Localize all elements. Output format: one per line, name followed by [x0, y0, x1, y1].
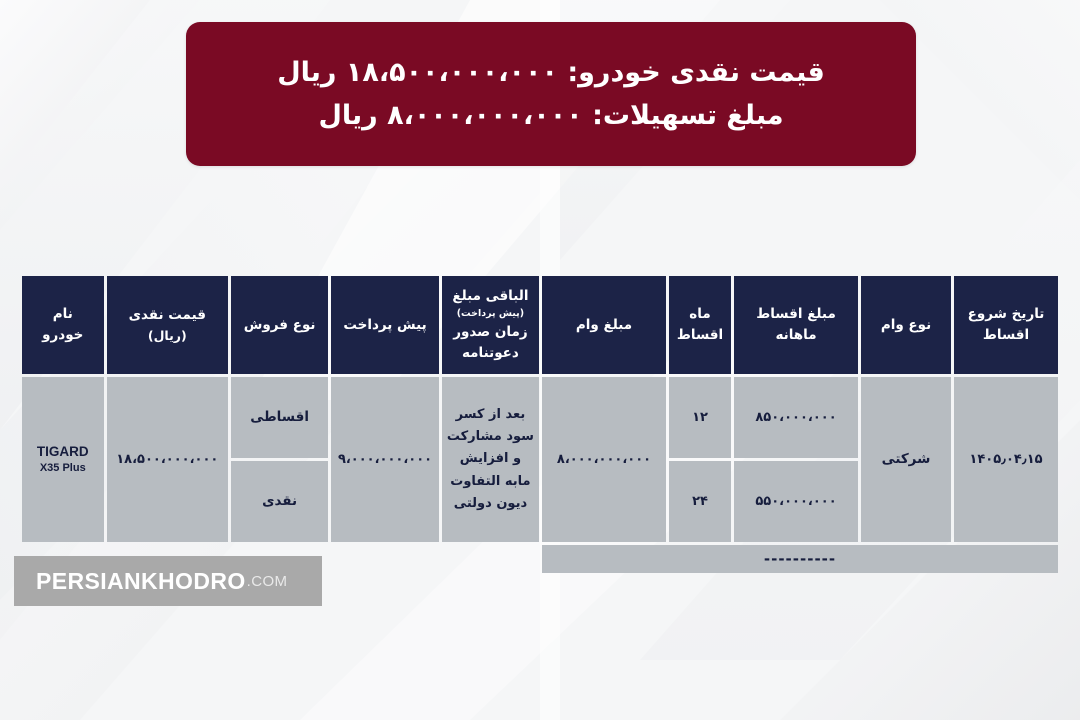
cell-monthly-installment-24: ۵۵۰،۰۰۰،۰۰۰ [734, 461, 858, 542]
column-loan-type: نوع وام شرکتی [861, 276, 951, 542]
cell-sale-type-installment: اقساطی [231, 377, 328, 458]
watermark-persiankhodro: PERSIANKHODRO .COM [14, 556, 322, 606]
cell-remaining-line5: دیون دولتی [454, 493, 527, 515]
header-car-name-line2: خودرو [42, 325, 83, 346]
column-car-name: نام خودرو TIGARD X35 Plus [22, 276, 104, 542]
column-prepayment: پیش پرداخت ۹،۰۰۰،۰۰۰،۰۰۰ [331, 276, 439, 542]
header-car-name: نام خودرو [22, 276, 104, 374]
header-loan-type: نوع وام [861, 276, 951, 374]
banner-facility-amount-line: مبلغ تسهیلات: ۸،۰۰۰،۰۰۰،۰۰۰ ریال [318, 100, 783, 131]
header-installment-months-line2: اقساط [677, 325, 723, 346]
cell-dashes-row: ---------- [542, 545, 1058, 573]
cell-car-name-main: TIGARD [37, 443, 89, 461]
header-installment-months-line1: ماه [689, 304, 710, 325]
header-start-date: تاریخ شروع اقساط [954, 276, 1058, 374]
column-sale-type: نوع فروش اقساطی نقدی [231, 276, 328, 542]
header-sale-type: نوع فروش [231, 276, 328, 374]
banner-cash-price-line: قیمت نقدی خودرو: ۱۸،۵۰۰،۰۰۰،۰۰۰ ریال [277, 57, 825, 88]
table-left-group-row: تاریخ شروع اقساط ۱۴۰۵٫۰۴٫۱۵ نوع وام شرکت… [542, 276, 1058, 542]
table-left-group: تاریخ شروع اقساط ۱۴۰۵٫۰۴٫۱۵ نوع وام شرکت… [542, 276, 1058, 542]
cell-cash-price: ۱۸،۵۰۰،۰۰۰،۰۰۰ [107, 377, 228, 542]
cell-remaining-line1: بعد از کسر [456, 404, 526, 426]
column-remaining-amount: الباقی مبلغ (پیش پرداخت) زمان صدور دعوتن… [442, 276, 539, 542]
header-remaining-line1: الباقی مبلغ [452, 286, 528, 307]
cell-start-date: ۱۴۰۵٫۰۴٫۱۵ [954, 377, 1058, 542]
header-monthly-installment-line1: مبلغ اقساط [756, 304, 836, 325]
header-remaining-amount: الباقی مبلغ (پیش پرداخت) زمان صدور دعوتن… [442, 276, 539, 374]
header-car-name-line1: نام [53, 304, 73, 325]
column-loan-amount: مبلغ وام ۸،۰۰۰،۰۰۰،۰۰۰ [542, 276, 666, 542]
watermark-tld: .COM [247, 573, 288, 590]
watermark-brand: PERSIANKHODRO [36, 568, 246, 595]
header-start-date-line1: تاریخ شروع [968, 304, 1045, 325]
cell-installment-months-12: ۱۲ [669, 377, 731, 458]
header-cash-price-line1: قیمت نقدی [129, 305, 206, 326]
price-table: تاریخ شروع اقساط ۱۴۰۵٫۰۴٫۱۵ نوع وام شرکت… [22, 276, 1058, 542]
header-remaining-line4: دعوتنامه [462, 343, 519, 364]
header-monthly-installment: مبلغ اقساط ماهانه [734, 276, 858, 374]
column-installment-months: ماه اقساط ۱۲ ۲۴ [669, 276, 731, 542]
cell-loan-amount: ۸،۰۰۰،۰۰۰،۰۰۰ [542, 377, 666, 542]
header-remaining-line2: (پیش پرداخت) [457, 307, 524, 321]
header-cash-price-line2: (ریال) [148, 326, 187, 345]
cell-remaining-amount: بعد از کسر سود مشارکت و افزایش مابه التف… [442, 377, 539, 542]
header-prepayment: پیش پرداخت [331, 276, 439, 374]
cell-remaining-line2: سود مشارکت [447, 426, 534, 448]
cell-sale-type-cash: نقدی [231, 461, 328, 542]
header-remaining-line3: زمان صدور [453, 322, 527, 343]
cell-car-name: TIGARD X35 Plus [22, 377, 104, 542]
column-cash-price: قیمت نقدی (ریال) ۱۸،۵۰۰،۰۰۰،۰۰۰ [107, 276, 228, 542]
cell-car-name-sub: X35 Plus [40, 461, 86, 476]
cell-installment-months-24: ۲۴ [669, 461, 731, 542]
header-start-date-line2: اقساط [983, 325, 1029, 346]
header-loan-amount: مبلغ وام [542, 276, 666, 374]
column-start-date: تاریخ شروع اقساط ۱۴۰۵٫۰۴٫۱۵ [954, 276, 1058, 542]
cell-monthly-installment-12: ۸۵۰،۰۰۰،۰۰۰ [734, 377, 858, 458]
cell-remaining-line4: مابه التفاوت [450, 471, 530, 493]
header-installment-months: ماه اقساط [669, 276, 731, 374]
column-monthly-installment: مبلغ اقساط ماهانه ۸۵۰،۰۰۰،۰۰۰ ۵۵۰،۰۰۰،۰۰… [734, 276, 858, 542]
cell-prepayment: ۹،۰۰۰،۰۰۰،۰۰۰ [331, 377, 439, 542]
header-monthly-installment-line2: ماهانه [775, 325, 816, 346]
header-cash-price: قیمت نقدی (ریال) [107, 276, 228, 374]
price-banner: قیمت نقدی خودرو: ۱۸،۵۰۰،۰۰۰،۰۰۰ ریال مبل… [186, 22, 916, 166]
cell-remaining-line3: و افزایش [460, 448, 521, 470]
cell-loan-type: شرکتی [861, 377, 951, 542]
